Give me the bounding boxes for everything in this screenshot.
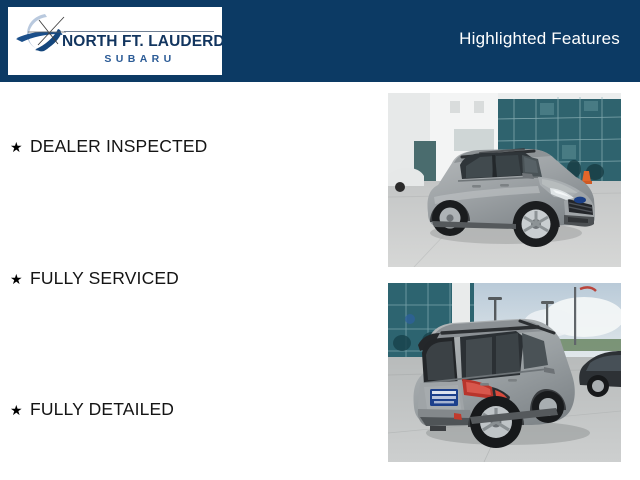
logo-divider-rule [64,31,214,32]
page-title: Highlighted Features [459,29,620,49]
feature-label: FULLY DETAILED [30,401,174,419]
feature-label: DEALER INSPECTED [30,138,207,156]
logo-dealer-name: NORTH FT. LAUDERDALE [62,34,218,50]
star-bullet-icon: ★ [10,140,30,154]
vehicle-photo-rear[interactable] [388,283,621,462]
star-bullet-icon: ★ [10,272,30,286]
highlighted-features-list: ★ DEALER INSPECTED ★ FULLY SERVICED ★ FU… [0,82,380,480]
vehicle-front-image [388,93,621,267]
page-header: NORTH FT. LAUDERDALE SUBARU Highlighted … [0,0,640,82]
list-item: ★ FULLY DETAILED [10,401,174,419]
star-bullet-icon: ★ [10,403,30,417]
vehicle-rear-image [388,283,621,462]
vehicle-photo-front[interactable] [388,93,621,267]
dealer-logo[interactable]: NORTH FT. LAUDERDALE SUBARU [8,7,222,75]
logo-brand-subaru: SUBARU [62,54,218,65]
feature-label: FULLY SERVICED [30,270,179,288]
list-item: ★ DEALER INSPECTED [10,138,207,156]
list-item: ★ FULLY SERVICED [10,270,179,288]
